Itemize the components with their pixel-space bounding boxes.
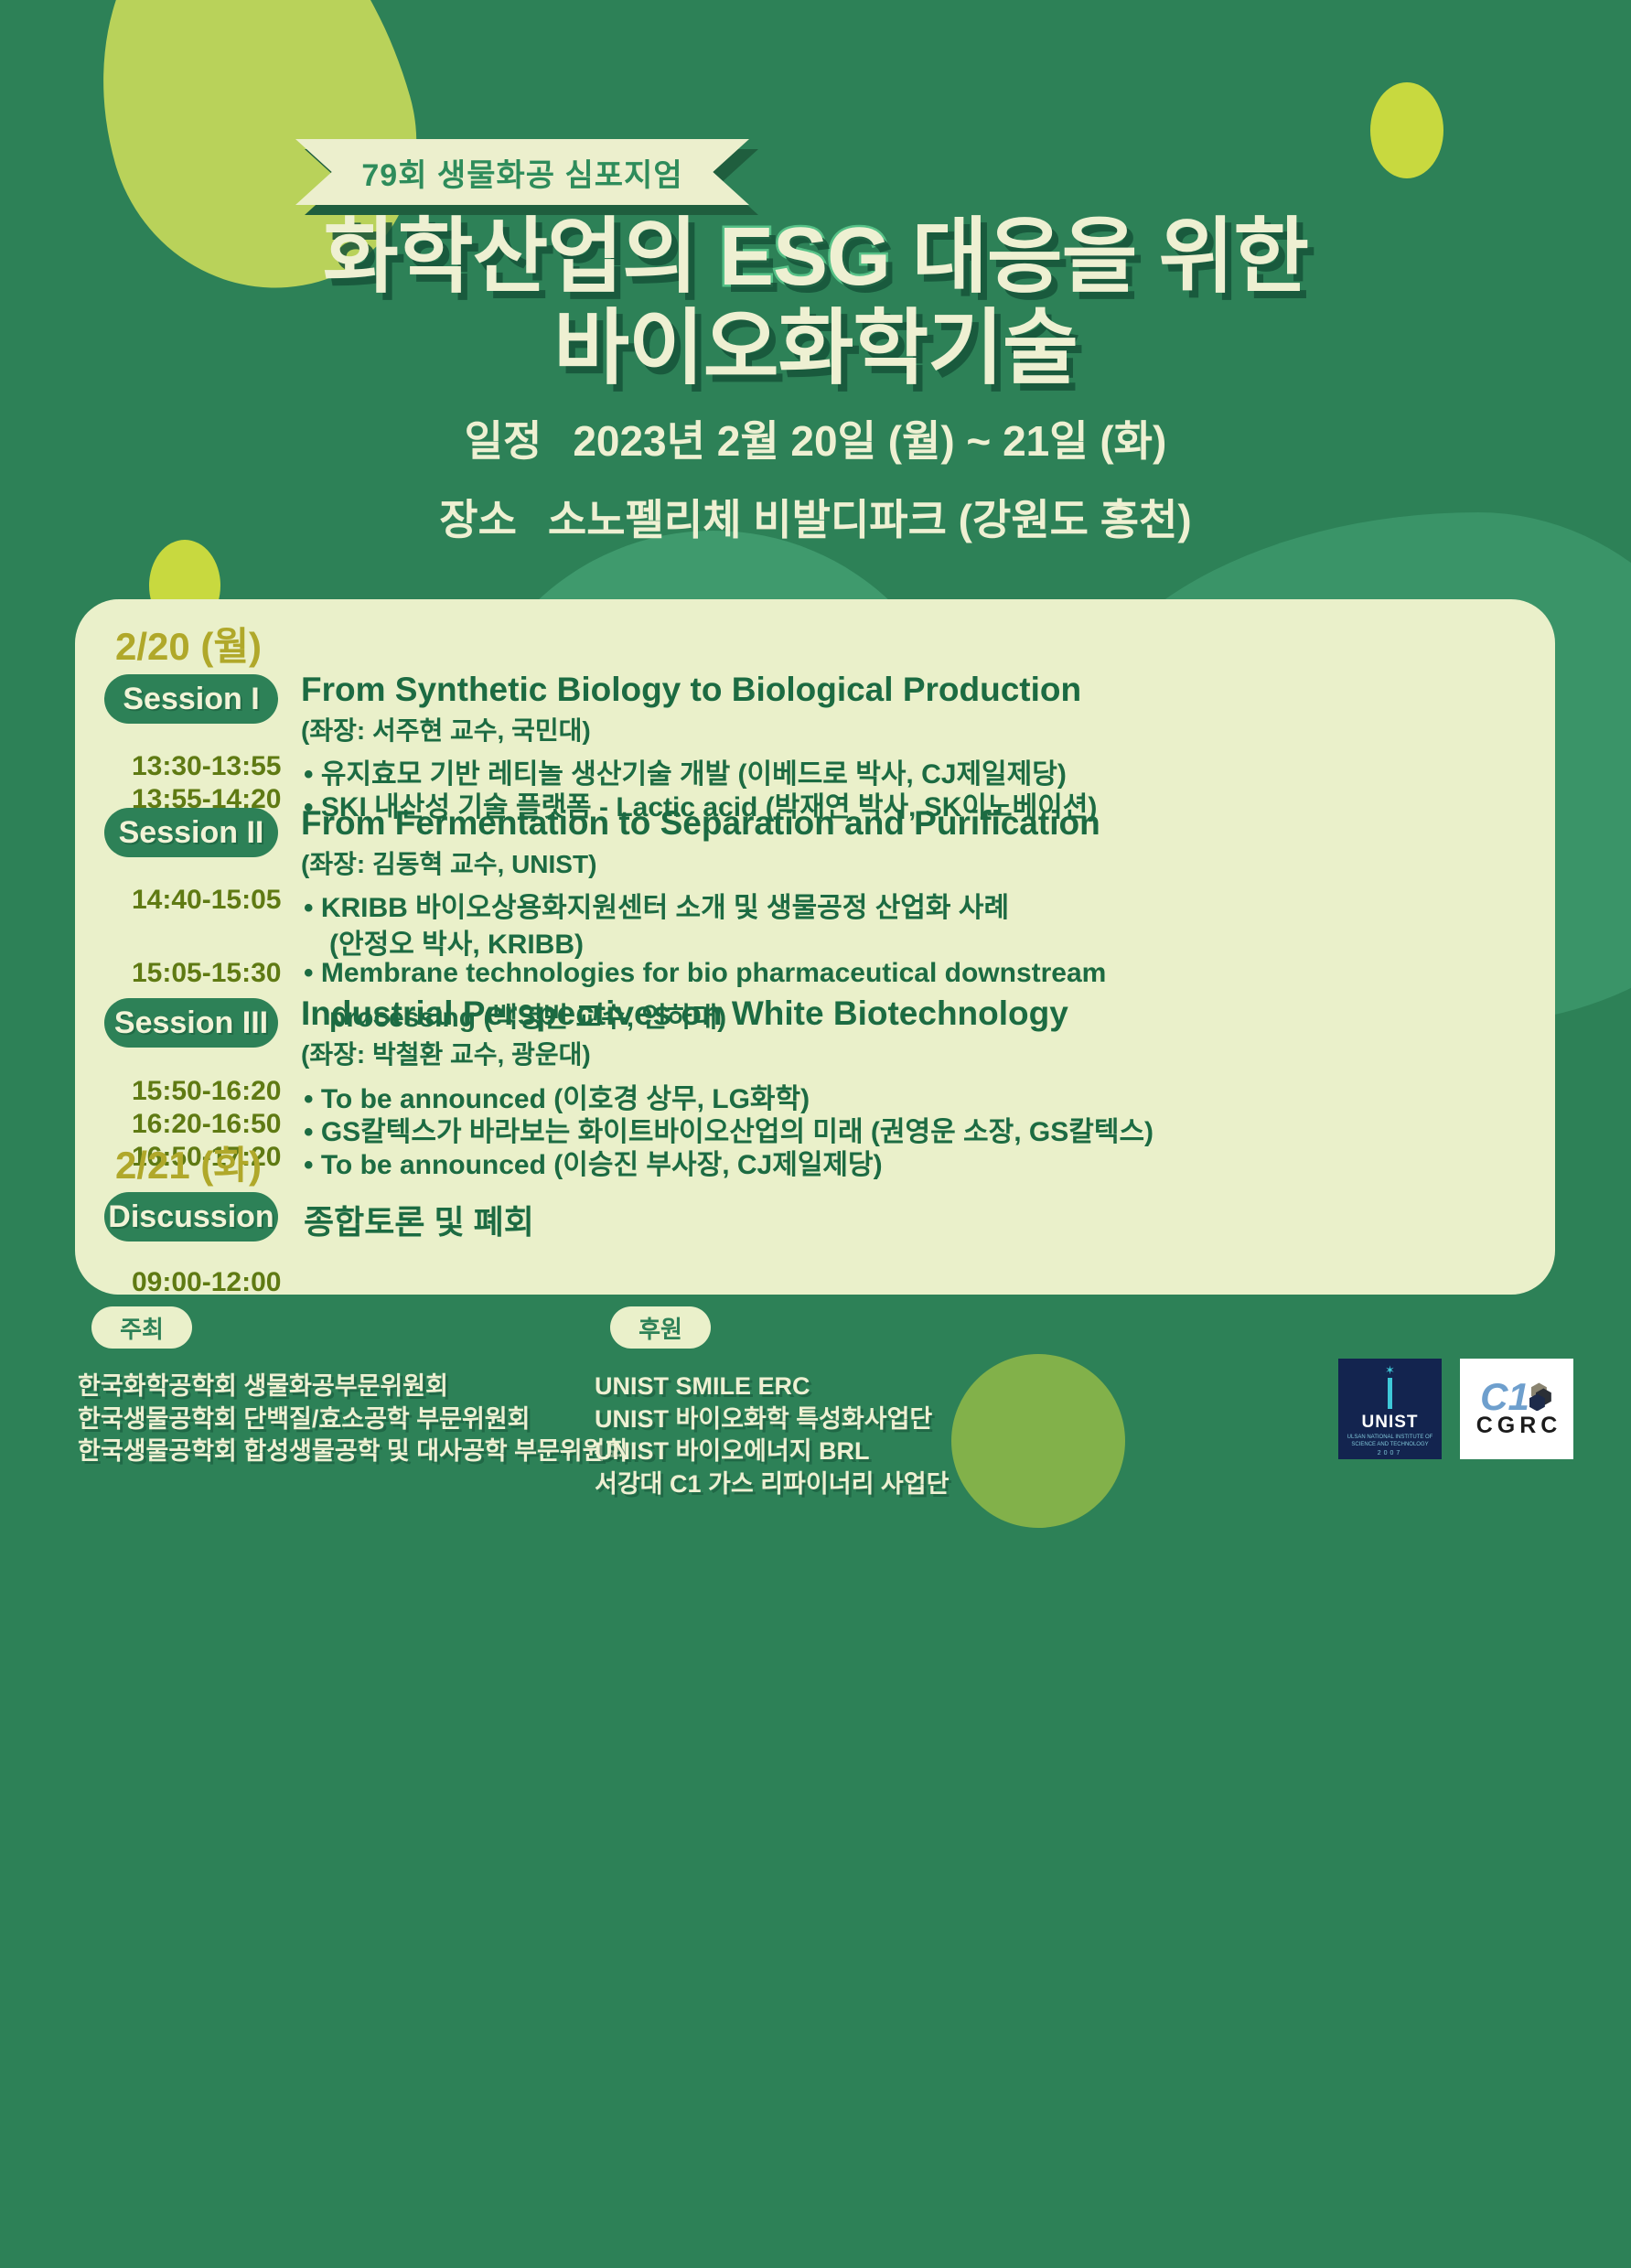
event-date-row: 일정2023년 2월 20일 (월) ~ 21일 (화) xyxy=(0,408,1631,468)
talk-time: 13:30-13:55 xyxy=(132,751,281,782)
talk-time: 15:50-16:20 xyxy=(132,1076,281,1107)
sponsor-badge: 후원 xyxy=(610,1306,711,1349)
cgrc-c1-mark: C1 xyxy=(1480,1379,1529,1415)
place-value: 소노펠리체 비발디파크 (강원도 홍천) xyxy=(548,496,1192,543)
title-part-2: 대응을 위한 xyxy=(890,211,1308,303)
poster-root: 79회 생물화공 심포지엄 화학산업의 ESG 대응을 위한 바이오화학기술 일… xyxy=(0,0,1631,2268)
session-pill-3: Session III xyxy=(104,998,278,1048)
session-title-2: From Fermentation to Separation and Puri… xyxy=(301,804,1100,843)
sponsor-organizations: UNIST SMILE ERC UNIST 바이오화학 특성화사업단 UNIST… xyxy=(595,1370,949,1501)
talk-time: 14:40-15:05 xyxy=(132,885,281,916)
day-label-2: 2/21 (화) xyxy=(115,1134,262,1190)
day-label-1: 2/20 (월) xyxy=(115,616,262,672)
date-label: 일정 xyxy=(465,417,542,465)
ribbon-body: 79회 생물화공 심포지엄 xyxy=(295,139,749,205)
title-part-1: 화학산업의 xyxy=(323,211,719,303)
hexagon-icon xyxy=(1526,1382,1553,1410)
unist-star-icon: ✶ xyxy=(1385,1364,1395,1376)
session-chair-3: (좌장: 박철환 교수, 광운대) xyxy=(301,1035,591,1071)
session-pill-2: Session II xyxy=(104,808,278,857)
place-label: 장소 xyxy=(439,496,517,543)
discussion-time: 09:00-12:00 xyxy=(132,1267,281,1298)
session-title-1: From Synthetic Biology to Biological Pro… xyxy=(301,671,1081,709)
discussion-title: 종합토론 및 폐회 xyxy=(304,1196,534,1243)
unist-logo: ✶ UNIST ULSAN NATIONAL INSTITUTE OF SCIE… xyxy=(1338,1359,1442,1459)
unist-bar-icon xyxy=(1388,1378,1392,1409)
unist-wordmark: UNIST xyxy=(1362,1413,1419,1433)
session-title-3: Industrial Perspectives on White Biotech… xyxy=(301,994,1068,1033)
talk-text-continued: (안정오 박사, KRIBB) xyxy=(329,921,584,962)
c1-cgrc-logo: C1 CGRC xyxy=(1460,1359,1573,1459)
title-line-2: 바이오화학기술 xyxy=(0,307,1631,392)
host-organizations: 한국화학공학회 생물화공부문위원회 한국생물공학회 단백질/효소공학 부문위원회… xyxy=(78,1370,628,1468)
cgrc-top-row: C1 xyxy=(1480,1379,1553,1415)
session-chair-1: (좌장: 서주현 교수, 국민대) xyxy=(301,711,591,747)
talk-time: 15:05-15:30 xyxy=(132,958,281,989)
talk-text: • To be announced (이승진 부사장, CJ제일제당) xyxy=(304,1142,883,1182)
talk-text: • Membrane technologies for bio pharmace… xyxy=(304,958,1106,989)
session-pill-1: Session I xyxy=(104,674,278,724)
cgrc-wordmark: CGRC xyxy=(1472,1413,1562,1439)
title-esg: ESG xyxy=(719,211,890,303)
session-chair-2: (좌장: 김동혁 교수, UNIST) xyxy=(301,844,596,881)
host-badge: 주최 xyxy=(91,1306,192,1349)
event-place-row: 장소소노펠리체 비발디파크 (강원도 홍천) xyxy=(0,487,1631,547)
ribbon-banner: 79회 생물화공 심포지엄 xyxy=(295,139,749,205)
decorative-circle-top-right xyxy=(1370,82,1443,178)
page-title: 화학산업의 ESG 대응을 위한 바이오화학기술 xyxy=(0,216,1631,392)
ribbon-label: 79회 생물화공 심포지엄 xyxy=(361,150,682,195)
talk-text: • KRIBB 바이오상용화지원센터 소개 및 생물공정 산업화 사례 xyxy=(304,885,1009,925)
decorative-circle-lower xyxy=(951,1354,1125,1528)
unist-year: 2007 xyxy=(1378,1450,1403,1456)
date-value: 2023년 2월 20일 (월) ~ 21일 (화) xyxy=(573,417,1166,465)
schedule-card: 2/20 (월) Session I From Synthetic Biolog… xyxy=(75,599,1555,1295)
discussion-pill: Discussion xyxy=(104,1192,278,1241)
unist-subtitle: ULSAN NATIONAL INSTITUTE OF SCIENCE AND … xyxy=(1347,1435,1433,1448)
